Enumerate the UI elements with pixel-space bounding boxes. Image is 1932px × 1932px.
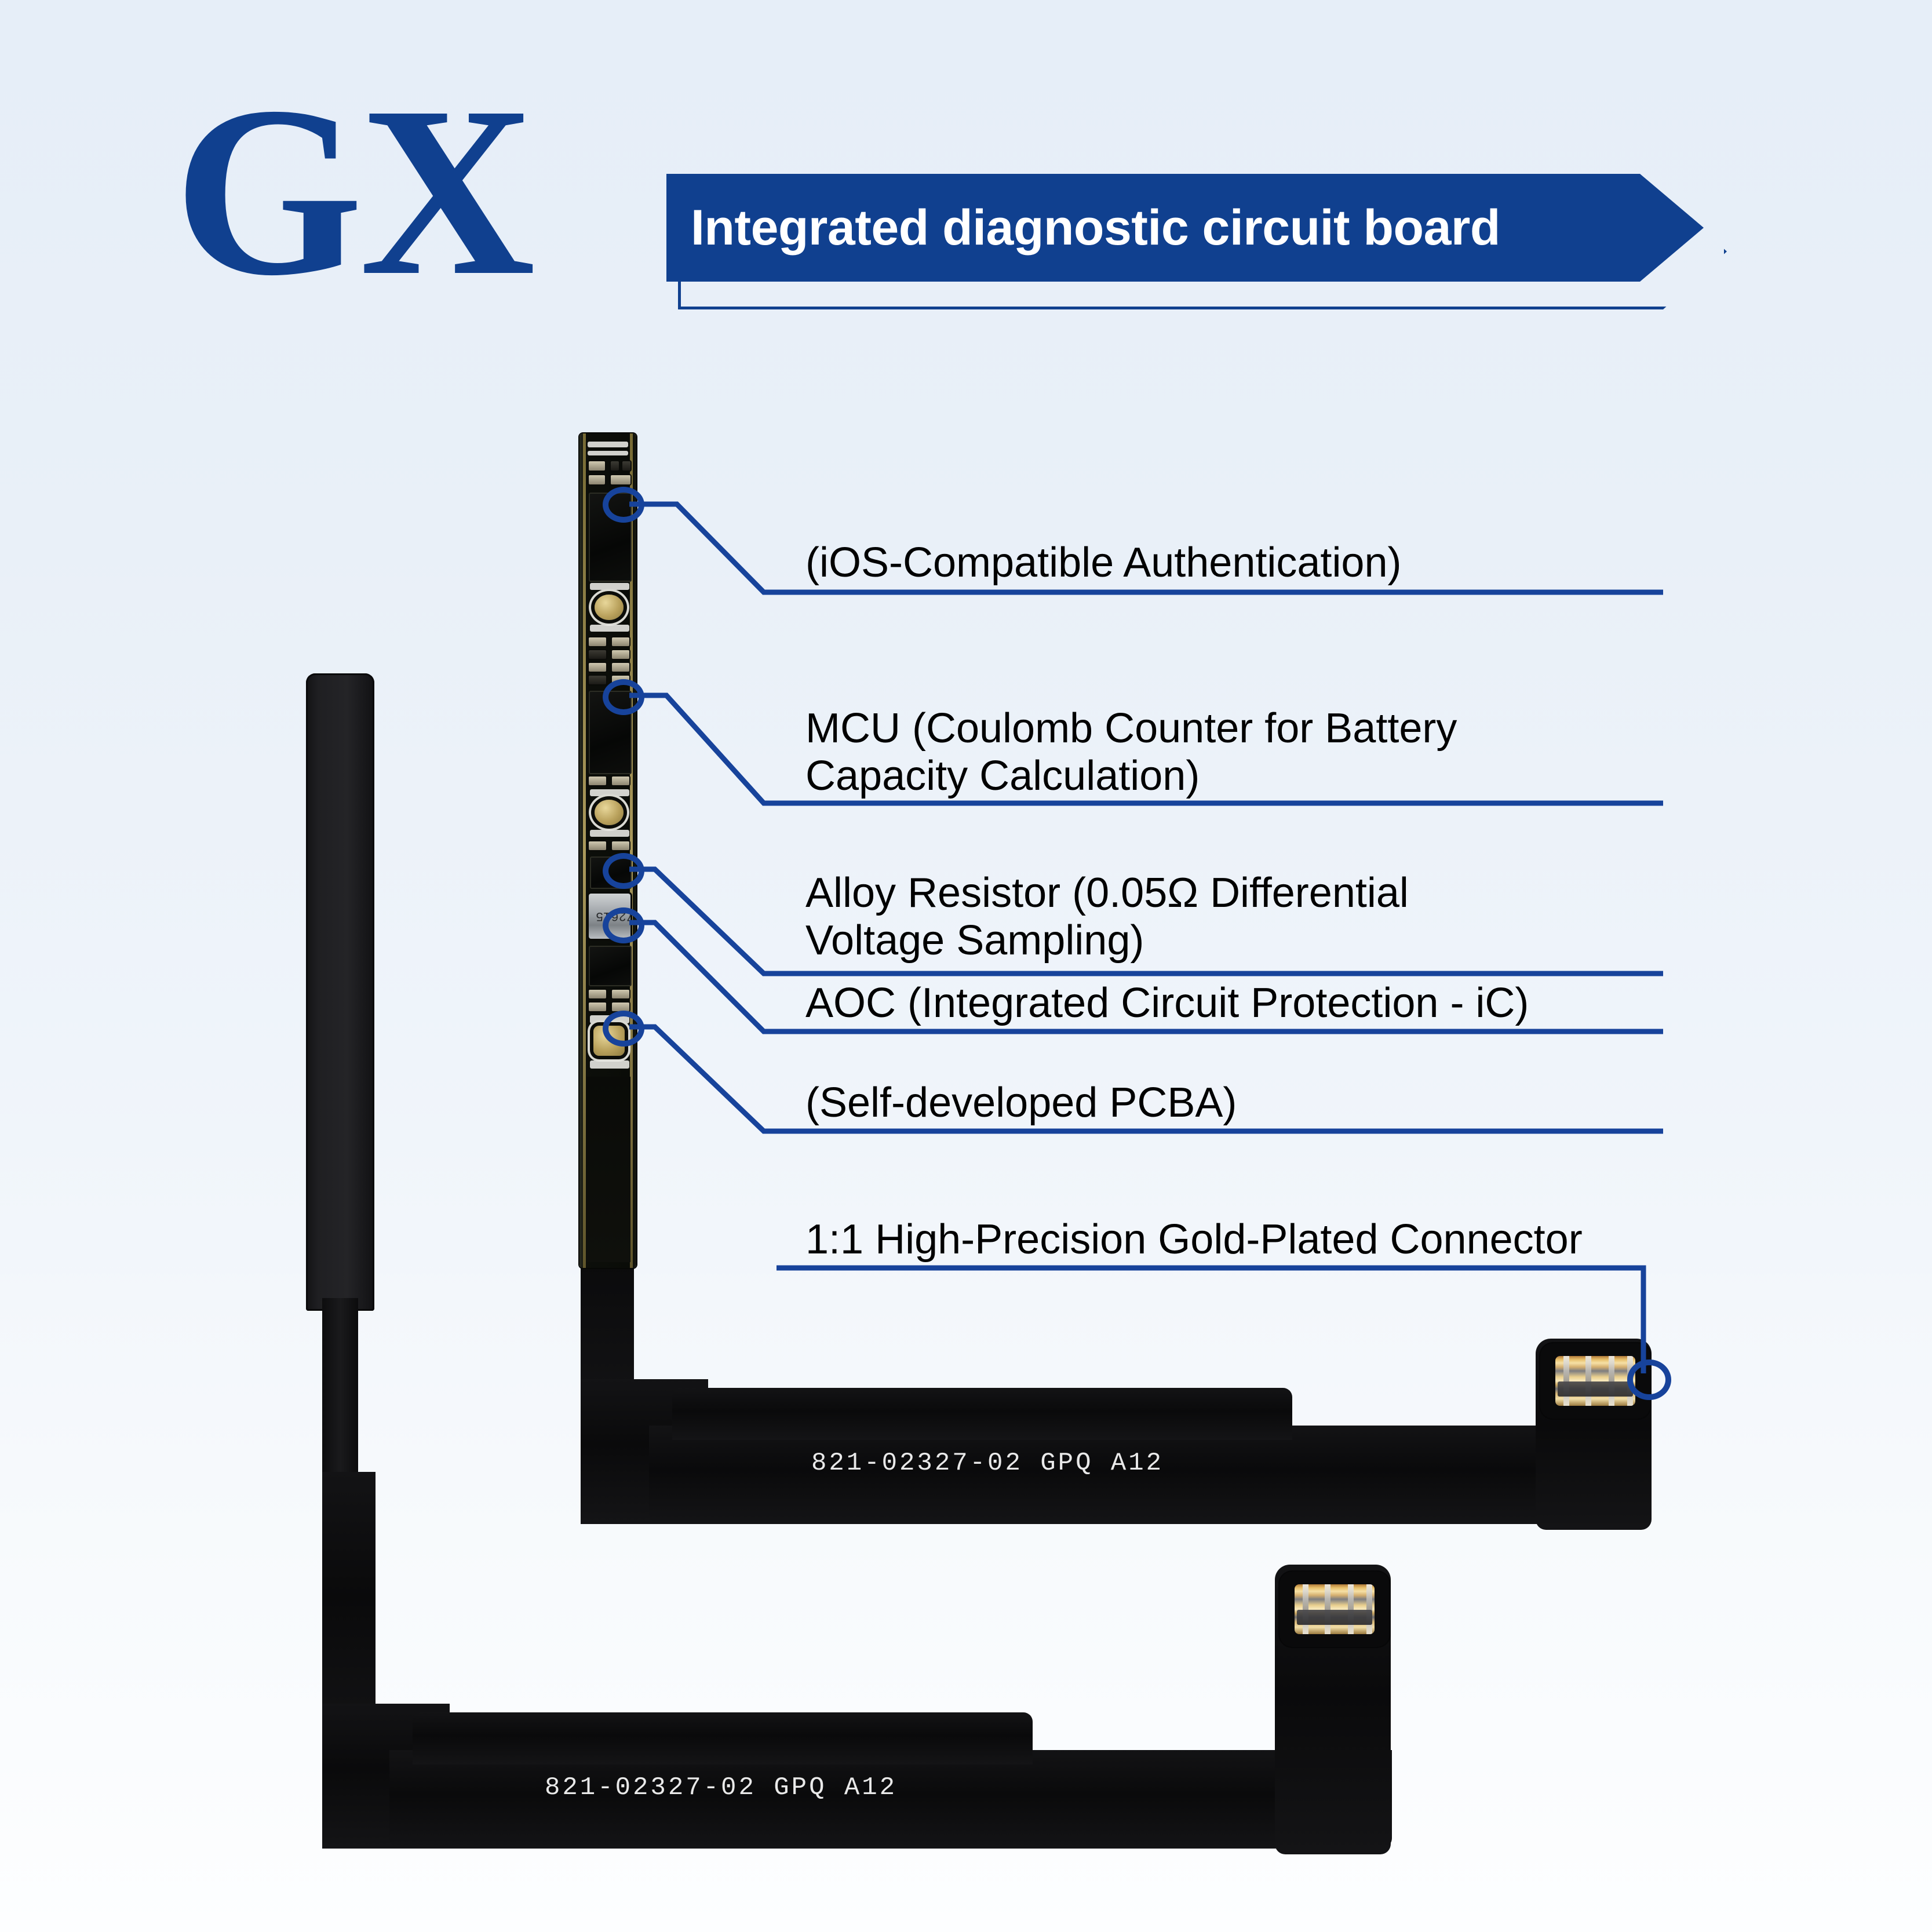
smd-resistor-3 — [622, 461, 630, 471]
marker-ios-auth — [603, 487, 644, 523]
smd-cluster-a1 — [589, 637, 606, 646]
marker-pcba — [603, 1011, 644, 1047]
marker-alloy-resistor — [603, 853, 644, 889]
marker-aoc — [603, 907, 644, 943]
pad2-solder-bottom — [590, 830, 629, 837]
smd-cluster-a2 — [612, 637, 629, 646]
pad3-smd-r2 — [612, 1003, 629, 1011]
bottom-cable-part-number: 821-02327-02 GPQ A12 — [545, 1773, 897, 1802]
diagnostic-pcb-strip: 72615 — [579, 433, 636, 1268]
pad3-smd-l2 — [589, 1003, 606, 1011]
pcb-gold-edge-left — [583, 433, 586, 1268]
marker-connector — [1627, 1359, 1671, 1400]
pcb-top-trace-2 — [588, 451, 628, 455]
top-cable-shoulder — [672, 1388, 1292, 1440]
pad1-solder-top — [590, 583, 629, 590]
secondary-board-stem — [322, 1298, 358, 1489]
callout-label-alloy-resistor: Alloy Resistor (0.05Ω Differential Volta… — [805, 869, 1663, 964]
smd-resistor-5 — [611, 475, 630, 484]
brand-logo: GX — [174, 81, 532, 301]
callout-label-connector: 1:1 High-Precision Gold-Plated Connector — [805, 1216, 1709, 1263]
banner-fill-chevron: Integrated diagnostic circuit board — [666, 174, 1704, 282]
pad2-solder-top — [590, 789, 629, 796]
gold-connector-bottom — [1280, 1572, 1390, 1647]
pcba-bare-tail — [586, 1077, 630, 1262]
pad3-smd-l — [589, 990, 606, 998]
gold-connector-contacts-bottom — [1295, 1584, 1375, 1634]
smd-cluster-b2 — [612, 650, 629, 659]
pad3-smd-r — [612, 990, 629, 998]
smd-resistor-4 — [589, 475, 605, 484]
callout-label-pcba: (Self-developed PCBA) — [805, 1079, 1663, 1127]
top-cable-part-number: 821-02327-02 GPQ A12 — [811, 1449, 1164, 1478]
header-banner: Integrated diagnostic circuit board — [666, 174, 1767, 307]
aoc-protection-ic — [589, 946, 632, 986]
gold-pad-upper — [595, 595, 624, 620]
page-title: Integrated diagnostic circuit board — [666, 199, 1500, 257]
bottom-cable-shoulder — [413, 1712, 1033, 1765]
gold-connector-contacts-top — [1555, 1356, 1635, 1406]
pad3-solder-bottom — [590, 1060, 629, 1069]
pad2-smd-r — [612, 777, 629, 785]
callout-label-mcu: MCU (Coulomb Counter for Battery Capacit… — [805, 705, 1663, 800]
gold-pad-middle — [595, 800, 624, 825]
pad2-smd-l — [589, 777, 606, 785]
pad1-solder-bottom — [590, 625, 629, 632]
smd-cluster-c2 — [612, 663, 629, 672]
smd-resistor-2 — [611, 461, 619, 471]
marker-mcu — [603, 679, 644, 715]
pad2-smd-br — [612, 841, 629, 850]
callout-label-ios-auth: (iOS-Compatible Authentication) — [805, 539, 1663, 586]
smd-cluster-c1 — [589, 663, 606, 672]
callout-label-aoc: AOC (Integrated Circuit Protection - iC) — [805, 979, 1663, 1027]
smd-cluster-b1 — [589, 650, 606, 659]
smd-cluster-d1 — [589, 676, 606, 684]
infographic-canvas: GX Integrated diagnostic circuit board 8… — [0, 0, 1932, 1932]
secondary-board-side-profile — [306, 673, 374, 1311]
smd-resistor-1 — [589, 461, 605, 471]
pad2-smd-bl — [589, 841, 606, 850]
pcb-top-trace — [588, 442, 628, 447]
